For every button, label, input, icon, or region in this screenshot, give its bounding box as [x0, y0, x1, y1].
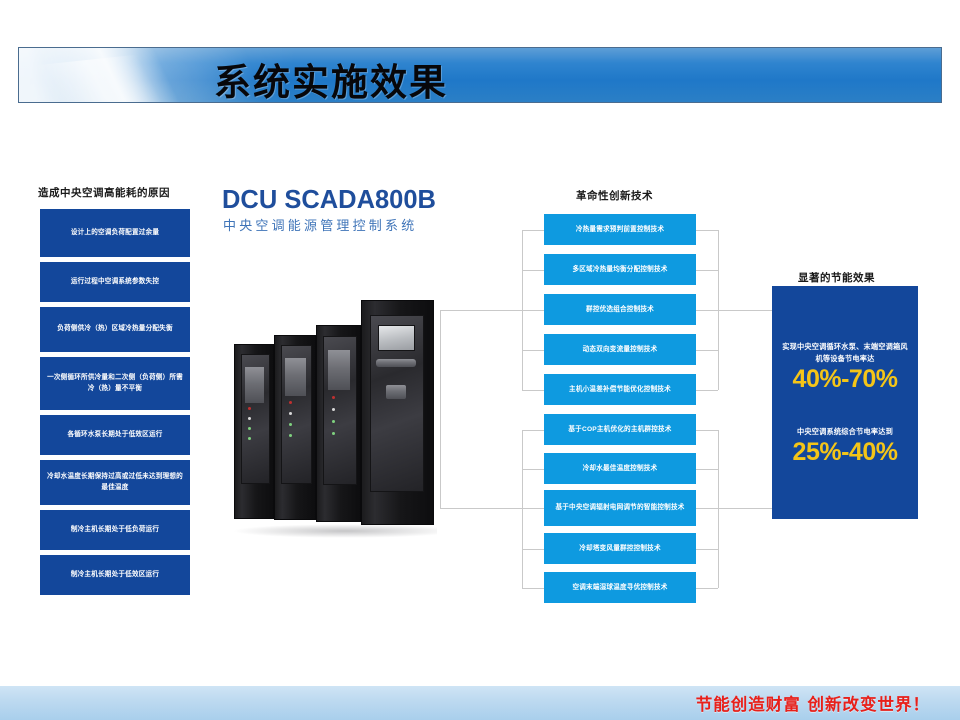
connector-branch-1	[522, 230, 544, 231]
causes-heading: 造成中央空调高能耗的原因	[38, 185, 170, 200]
connector-branch-8	[522, 508, 544, 509]
connector-right-branch-1	[696, 230, 718, 231]
tech-box-6: 基于COP主机优化的主机群控技术	[544, 414, 696, 445]
tech-box-10: 空调末端湿球温度寻优控制技术	[544, 572, 696, 603]
connector-branch-10	[522, 588, 544, 589]
tech-box-1: 冷热量需求预判前置控制技术	[544, 214, 696, 245]
connector-right-stem-upper	[718, 310, 772, 311]
effect-caption-2: 中央空调系统综合节电率达到	[772, 426, 918, 438]
connector-right-branch-5	[696, 390, 718, 391]
connector-branch-5	[522, 390, 544, 391]
connector-right-branch-9	[696, 549, 718, 550]
technologies-heading: 革命性创新技术	[576, 188, 653, 203]
connector-stem-upper	[440, 310, 522, 311]
connector-right-branch-4	[696, 350, 718, 351]
connector-right-branch-3	[696, 310, 718, 311]
tech-box-7: 冷却水最佳温度控制技术	[544, 453, 696, 484]
product-subtitle: 中央空调能源管理控制系统	[223, 215, 417, 234]
effect-value-1: 40%-70%	[772, 366, 918, 394]
cause-box-8: 制冷主机长期处于低效区运行	[40, 555, 190, 595]
effect-caption-1: 实现中央空调循环水泵、末端空调箱风机等设备节电率达	[772, 341, 918, 365]
connector-right-branch-10	[696, 588, 718, 589]
cause-box-1: 设计上的空调负荷配置过余量	[40, 209, 190, 257]
connector-right-branch-8	[696, 508, 718, 509]
page-title: 系统实施效果	[214, 52, 448, 103]
connector-right-branch-7	[696, 469, 718, 470]
cabinet-shadow	[232, 524, 437, 538]
control-cabinet-image	[228, 272, 443, 540]
tech-box-5: 主机小温差补偿节能优化控制技术	[544, 374, 696, 405]
connector-stem-link	[440, 310, 441, 509]
title-banner: 系统实施效果	[18, 47, 942, 103]
cabinet-4-main	[361, 300, 434, 525]
effect-item-1: 实现中央空调循环水泵、末端空调箱风机等设备节电率达 40%-70%	[772, 341, 918, 393]
effects-panel: 实现中央空调循环水泵、末端空调箱风机等设备节电率达 40%-70% 中央空调系统…	[772, 286, 918, 519]
connector-branch-2	[522, 270, 544, 271]
connector-right-branch-2	[696, 270, 718, 271]
tech-box-9: 冷却塔变风量群控控制技术	[544, 533, 696, 564]
cause-box-2: 运行过程中空调系统参数失控	[40, 262, 190, 302]
connector-branch-6	[522, 430, 544, 431]
cabinet-2	[274, 335, 316, 520]
connector-right-stem-lower	[718, 508, 772, 509]
effect-item-2: 中央空调系统综合节电率达到 25%-40%	[772, 426, 918, 466]
cause-box-6: 冷却水温度长期保持过高或过低未达到理想的最佳温度	[40, 460, 190, 505]
connector-branch-7	[522, 469, 544, 470]
effect-value-2: 25%-40%	[772, 439, 918, 467]
tech-box-2: 多区域冷热量均衡分配控制技术	[544, 254, 696, 285]
cause-box-4: 一次侧循环所供冷量和二次侧（负荷侧）所需冷（热）量不平衡	[40, 357, 190, 410]
footer-slogan: 节能创造财富 创新改变世界！	[696, 691, 930, 715]
tech-box-8: 基于中央空调辐射电网调节的智能控制技术	[544, 490, 696, 526]
cabinet-3	[316, 325, 361, 522]
product-name: DCU SCADA800B	[222, 186, 436, 215]
tech-box-3: 群控优选组合控制技术	[544, 294, 696, 325]
tech-box-4: 动态双向变流量控制技术	[544, 334, 696, 365]
connector-right-branch-6	[696, 430, 718, 431]
cause-box-5: 各循环水泵长期处于低效区运行	[40, 415, 190, 455]
cabinet-1	[234, 344, 274, 519]
footer-bar: 节能创造财富 创新改变世界！	[0, 686, 960, 720]
connector-branch-9	[522, 549, 544, 550]
cause-box-7: 制冷主机长期处于低负荷运行	[40, 510, 190, 550]
connector-stem-lower	[440, 508, 522, 509]
cause-box-3: 负荷侧供冷（热）区域冷热量分配失衡	[40, 307, 190, 352]
cabinet-hmi-screen	[378, 325, 415, 351]
connector-branch-3	[522, 310, 544, 311]
effects-heading: 显著的节能效果	[798, 270, 875, 285]
connector-branch-4	[522, 350, 544, 351]
